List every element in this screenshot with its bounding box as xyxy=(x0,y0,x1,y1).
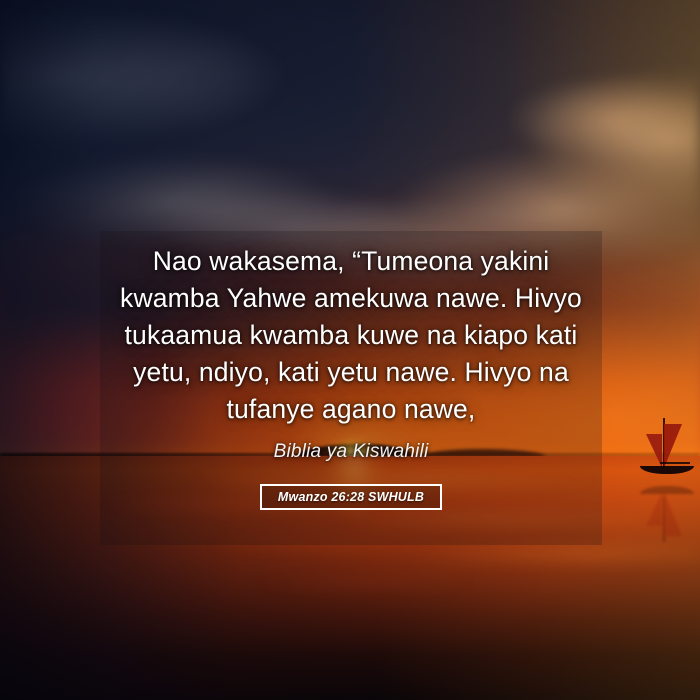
main-sail-reflection xyxy=(664,492,682,536)
sailboat-reflection xyxy=(636,478,698,542)
boom xyxy=(660,462,690,464)
verse-overlay-panel: Nao wakasema, “Tumeona yakini kwamba Yah… xyxy=(100,231,602,545)
jib-sail-reflection xyxy=(646,492,662,526)
verse-source-label: Biblia ya Kiswahili xyxy=(274,428,429,463)
hull xyxy=(640,466,694,474)
hull-reflection xyxy=(640,486,694,494)
verse-text: Nao wakasema, “Tumeona yakini kwamba Yah… xyxy=(114,235,588,428)
verse-reference-badge: Mwanzo 26:28 SWHULB xyxy=(260,484,442,510)
verse-image-canvas: Nao wakasema, “Tumeona yakini kwamba Yah… xyxy=(0,0,700,700)
sailboat xyxy=(636,418,698,480)
